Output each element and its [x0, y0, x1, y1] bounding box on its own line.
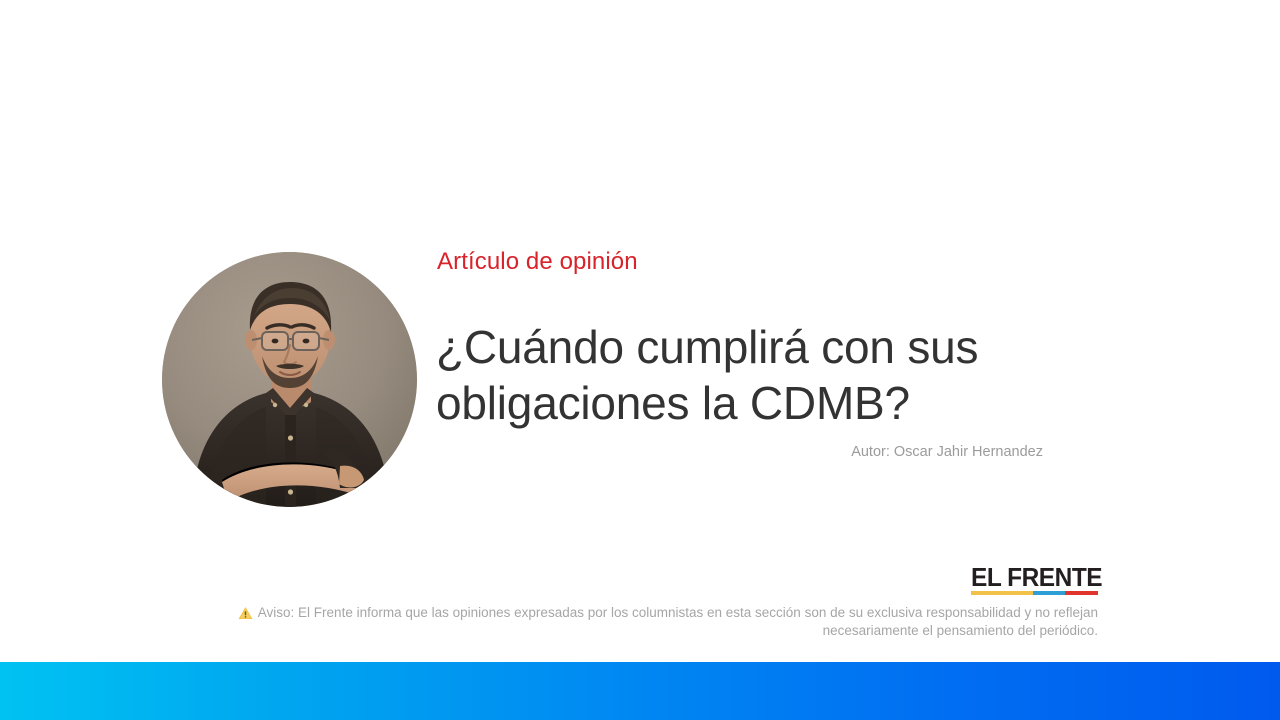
bottom-gradient-bar: [0, 662, 1280, 720]
logo-bar-red-segment: [1065, 591, 1098, 595]
article-author: Autor: Oscar Jahir Hernandez: [500, 442, 1043, 462]
disclaimer-text: Aviso: El Frente informa que las opinion…: [258, 605, 1098, 638]
logo-bar-yellow-segment: [971, 591, 1033, 595]
logo-wordmark: EL FRENTE: [971, 564, 1091, 590]
logo-tricolor-bar: [971, 591, 1098, 595]
article-kicker: Artículo de opinión: [437, 248, 638, 276]
el-frente-logo: EL FRENTE: [971, 564, 1099, 596]
author-portrait-image: [162, 252, 417, 507]
article-headline: ¿Cuándo cumplirá con sus obligaciones la…: [436, 319, 1076, 431]
logo-bar-blue-segment: [1033, 591, 1065, 595]
disclaimer-notice: Aviso: El Frente informa que las opinion…: [190, 604, 1098, 639]
author-portrait: [162, 252, 417, 507]
warning-triangle-icon: [238, 606, 253, 620]
opinion-article-slide: Artículo de opinión ¿Cuándo cumplirá con…: [0, 0, 1280, 720]
